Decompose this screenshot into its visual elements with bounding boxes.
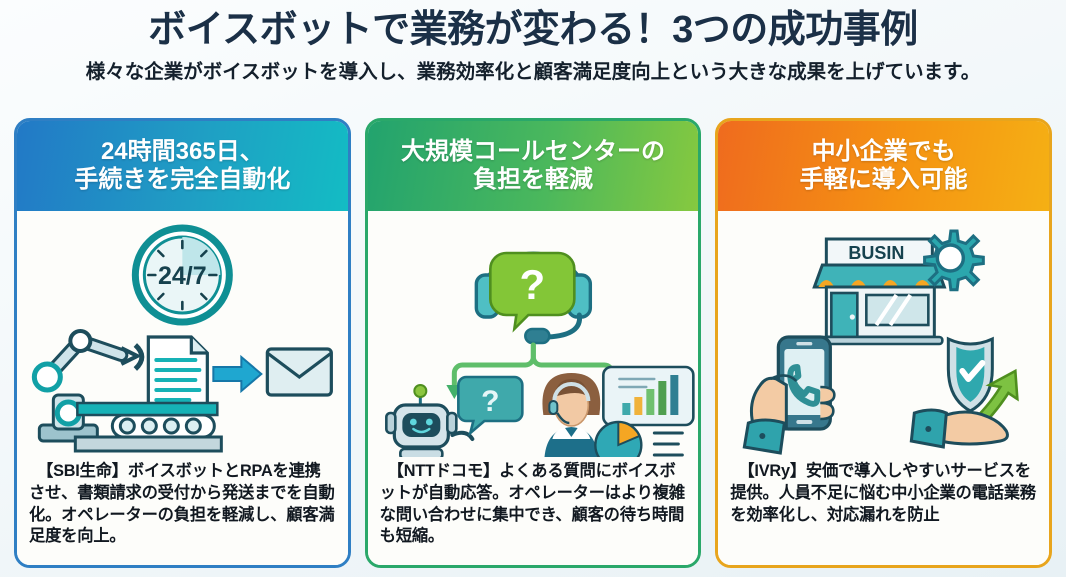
card-caption: 【IVRy】安価で導入しやすいサービスを提供。人員不足に悩む中小企業の電話業務を… xyxy=(718,457,1049,534)
card-sme-easy-adoption[interactable]: 中小企業でも 手軽に導入可能 BUSIN xyxy=(715,118,1052,568)
illustration-storefront-phone-shield: BUSIN xyxy=(718,217,1049,457)
card-24-7-automation[interactable]: 24時間365日、 手続きを完全自動化 24/7 xyxy=(14,118,351,568)
clock-icon: 24/7 xyxy=(135,228,229,322)
card-body: ? xyxy=(368,211,699,565)
storefront-icon: BUSIN xyxy=(815,239,945,344)
card-body: BUSIN xyxy=(718,211,1049,565)
svg-text:?: ? xyxy=(481,385,499,418)
card-caption: 【NTTドコモ】よくある質問にボイスボットが自動応答。オペレーターはより複雑な問… xyxy=(368,457,699,556)
envelope-icon xyxy=(267,349,331,395)
card-call-center-load[interactable]: 大規模コールセンターの 負担を軽減 ? xyxy=(365,118,702,568)
question-bubble-icon: ? xyxy=(490,253,574,329)
card-body: 24/7 xyxy=(17,211,348,565)
shield-check-icon xyxy=(949,339,993,411)
illustration-headset-bot-operator: ? xyxy=(368,217,699,457)
arrow-right-icon xyxy=(213,357,261,391)
illustration-clock-robot-envelope: 24/7 xyxy=(17,217,348,457)
page-subtitle: 様々な企業がボイスボットを導入し、業務効率化と顧客満足度向上という大きな成果を上… xyxy=(14,61,1052,84)
card-caption: 【SBI生命】ボイスボットとRPAを連携させ、書類請求の受付から発送までを自動化… xyxy=(17,457,348,556)
card-title: 中小企業でも 手軽に導入可能 xyxy=(800,138,968,195)
page-header: ボイスボットで業務が変わる！3つの成功事例 様々な企業がボイスボットを導入し、業… xyxy=(0,0,1066,88)
clock-label: 24/7 xyxy=(158,262,207,290)
card-header: 中小企業でも 手軽に導入可能 xyxy=(718,121,1049,211)
page-title: ボイスボットで業務が変わる！3つの成功事例 xyxy=(14,10,1052,52)
hand-phone-icon xyxy=(745,337,835,453)
operator-icon xyxy=(542,373,600,457)
card-title: 大規模コールセンターの 負担を軽減 xyxy=(401,138,665,195)
card-title: 24時間365日、 手続きを完全自動化 xyxy=(74,138,290,195)
cards-row: 24時間365日、 手続きを完全自動化 24/7 xyxy=(14,118,1052,568)
gear-icon xyxy=(925,231,984,290)
robot-question-bubble-icon: ? xyxy=(458,377,522,433)
shop-sign-label: BUSIN xyxy=(849,243,905,263)
card-header: 大規模コールセンターの 負担を軽減 xyxy=(368,121,699,211)
pie-chart-icon xyxy=(595,422,682,457)
question-mark-label: ? xyxy=(519,261,545,308)
card-header: 24時間365日、 手続きを完全自動化 xyxy=(17,121,348,211)
